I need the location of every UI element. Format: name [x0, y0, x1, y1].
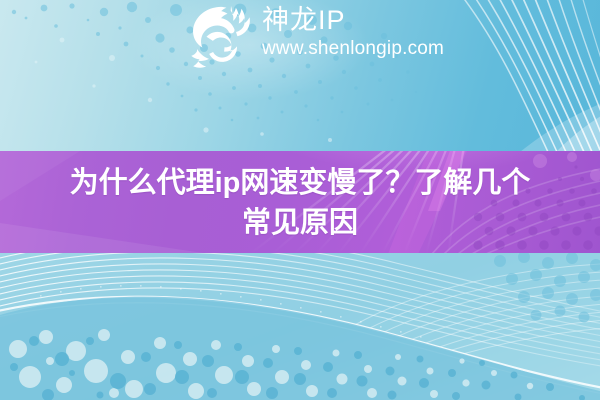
bottom-decoration [0, 253, 600, 400]
title-line-2: 常见原因 [242, 203, 358, 243]
top-background-panel: 神龙IP www.shenlongip.com [0, 0, 600, 152]
brand-name: 神龙IP [262, 5, 444, 36]
article-banner: 神龙IP www.shenlongip.com [0, 0, 600, 400]
logo-text-block: 神龙IP www.shenlongip.com [262, 2, 444, 61]
dragon-head-icon [186, 3, 256, 71]
title-line-1: 为什么代理ip网速变慢了？了解几个 [70, 163, 531, 203]
brand-logo[interactable]: 神龙IP www.shenlongip.com [186, 2, 486, 74]
brand-website-url: www.shenlongip.com [262, 37, 444, 61]
bottom-background-panel [0, 253, 600, 400]
article-title: 为什么代理ip网速变慢了？了解几个 常见原因 [0, 151, 600, 254]
title-band: 为什么代理ip网速变慢了？了解几个 常见原因 [0, 151, 600, 254]
